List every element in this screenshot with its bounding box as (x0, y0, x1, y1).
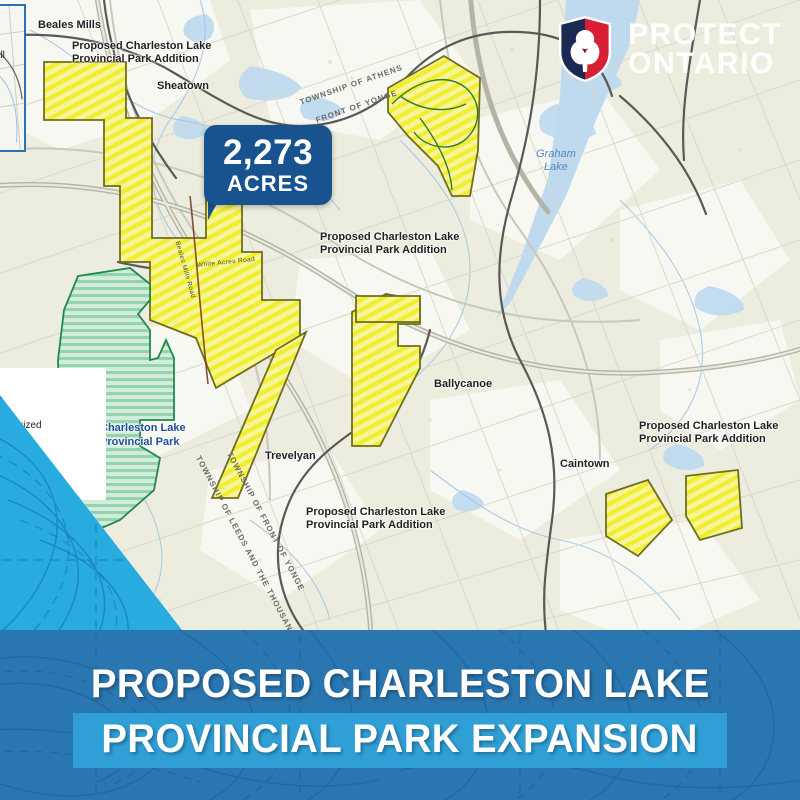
addition-label-line2: Provincial Park Addition (306, 519, 445, 532)
existing-park-label-line2: Provincial Park (100, 436, 186, 450)
poster-canvas: Proposed Charleston Lake Provincial Park… (0, 0, 800, 800)
addition-label-line1: Proposed Charleston Lake (320, 231, 459, 244)
addition-label-line1: Proposed Charleston Lake (639, 420, 778, 433)
banner-text: PROPOSED CHARLESTON LAKE PROVINCIAL PARK… (0, 630, 800, 800)
title-banner: PROPOSED CHARLESTON LAKE PROVINCIAL PARK… (0, 630, 800, 800)
place-label-ballycanoe: Ballycanoe (434, 378, 492, 390)
inset-map-box: Cornwall (0, 4, 26, 152)
addition-label-line1: Proposed Charleston Lake (72, 40, 211, 53)
place-label-beales-mills: Beales Mills (38, 19, 101, 31)
water-label-line1: Graham (536, 148, 576, 161)
shield-icon (556, 14, 614, 84)
acreage-unit: ACRES (227, 173, 309, 195)
place-label-caintown: Caintown (560, 458, 610, 470)
protect-ontario-logo: PROTECT ONTARIO (556, 14, 782, 84)
addition-label-line2: Provincial Park Addition (639, 433, 778, 446)
addition-label-line1: Proposed Charleston Lake (306, 506, 445, 519)
addition-label: Proposed Charleston Lake Provincial Park… (639, 420, 778, 447)
existing-park-label: Charleston Lake Provincial Park (100, 422, 186, 450)
water-label-line2: Lake (536, 161, 576, 174)
addition-label: Proposed Charleston Lake Provincial Park… (72, 40, 211, 67)
logo-wordmark: PROTECT ONTARIO (628, 20, 782, 79)
title-line-2-highlight: PROVINCIAL PARK EXPANSION (73, 713, 726, 768)
acreage-value: 2,273 (223, 135, 313, 170)
acreage-callout: 2,273 ACRES (204, 125, 332, 205)
logo-line1: PROTECT (628, 20, 782, 49)
existing-park-label-line1: Charleston Lake (100, 422, 186, 436)
place-label-trevelyan: Trevelyan (265, 450, 316, 462)
addition-label: Proposed Charleston Lake Provincial Park… (320, 231, 459, 258)
place-label-sheatown: Sheatown (157, 80, 209, 92)
logo-line2: ONTARIO (628, 49, 782, 78)
addition-label: Proposed Charleston Lake Provincial Park… (306, 506, 445, 533)
addition-label-line2: Provincial Park Addition (72, 53, 211, 66)
inset-label-cornwall: Cornwall (0, 50, 5, 61)
title-line-1: PROPOSED CHARLESTON LAKE (91, 662, 710, 707)
addition-label-line2: Provincial Park Addition (320, 244, 459, 257)
title-line-2: PROVINCIAL PARK EXPANSION (102, 717, 698, 762)
water-label-graham-lake: Graham Lake (536, 148, 576, 174)
